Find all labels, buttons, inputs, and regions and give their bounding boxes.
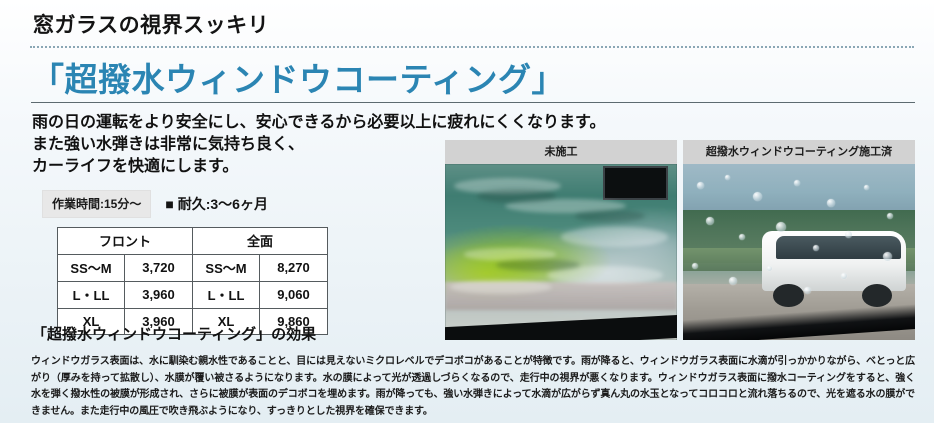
dotted-divider: [30, 46, 914, 48]
water-bead: [692, 263, 698, 269]
water-bead: [827, 199, 835, 207]
table-row: SS～M 3,720 SS～M 8,270: [58, 255, 328, 282]
front-size: L・LL: [58, 282, 125, 309]
water-bead: [706, 217, 714, 225]
front-price: 3,960: [125, 282, 193, 309]
header-front: フロント: [58, 228, 193, 255]
water-smear-dark: [477, 189, 556, 203]
water-bead: [804, 287, 811, 294]
caption-after: 超撥水ウィンドウコーティング施工済: [683, 140, 915, 164]
water-smear: [561, 227, 668, 246]
water-bead: [753, 192, 762, 201]
photo-after-image: [683, 164, 915, 340]
table-header-row: フロント 全面: [58, 228, 328, 255]
effect-heading: 「超撥水ウィンドウコーティング」の効果: [32, 323, 316, 344]
water-bead: [883, 252, 892, 261]
lead-line-1: 雨の日の運転をより安全にし、安心できるから必要以上に疲れにくくなります。: [32, 112, 605, 134]
front-price: 3,720: [125, 255, 193, 282]
meta-row: 作業時間:15分～ ■ 耐久:3～6ヶ月: [42, 190, 268, 218]
full-size: SS～M: [193, 255, 260, 282]
full-size: L・LL: [193, 282, 260, 309]
photo-before-image: [445, 164, 677, 340]
water-bead: [776, 222, 786, 232]
water-bead: [841, 273, 847, 279]
rearview-mirror: [603, 166, 667, 200]
solid-divider: [31, 102, 915, 103]
car-wheel: [862, 284, 892, 307]
water-smear-dark: [575, 210, 645, 222]
fineprint-paragraph: ウィンドウガラス表面は、水に馴染む親水性であることと、目には見えないミクロレベル…: [31, 354, 915, 420]
page-title: 「超撥水ウィンドウコーティング」: [31, 53, 565, 101]
water-bead: [697, 182, 704, 189]
water-bead: [725, 175, 730, 180]
durability-text: ■ 耐久:3～6ヶ月: [165, 194, 268, 214]
caption-before: 未施工: [445, 140, 677, 164]
water-bead: [813, 245, 819, 251]
table-row: L・LL 3,960 L・LL 9,060: [58, 282, 328, 309]
price-table: フロント 全面 SS～M 3,720 SS～M 8,270 L・LL 3,960…: [57, 227, 328, 335]
photo-before: 未施工: [445, 140, 677, 340]
eyebrow-text: 窓ガラスの視界スッキリ: [33, 9, 269, 39]
promo-page: 窓ガラスの視界スッキリ 「超撥水ウィンドウコーティング」 雨の日の運転をより安全…: [0, 0, 934, 423]
full-price: 9,060: [260, 282, 328, 309]
car-wheel: [773, 284, 803, 307]
work-time-badge: 作業時間:15分～: [42, 190, 151, 218]
comparison-photos: 未施工 超撥水ウィンドウコーティング施工済: [445, 140, 915, 340]
photo-after: 超撥水ウィンドウコーティング施工済: [683, 140, 915, 340]
header-full: 全面: [193, 228, 328, 255]
water-bead: [767, 266, 772, 271]
front-size: SS～M: [58, 255, 125, 282]
full-price: 8,270: [260, 255, 328, 282]
